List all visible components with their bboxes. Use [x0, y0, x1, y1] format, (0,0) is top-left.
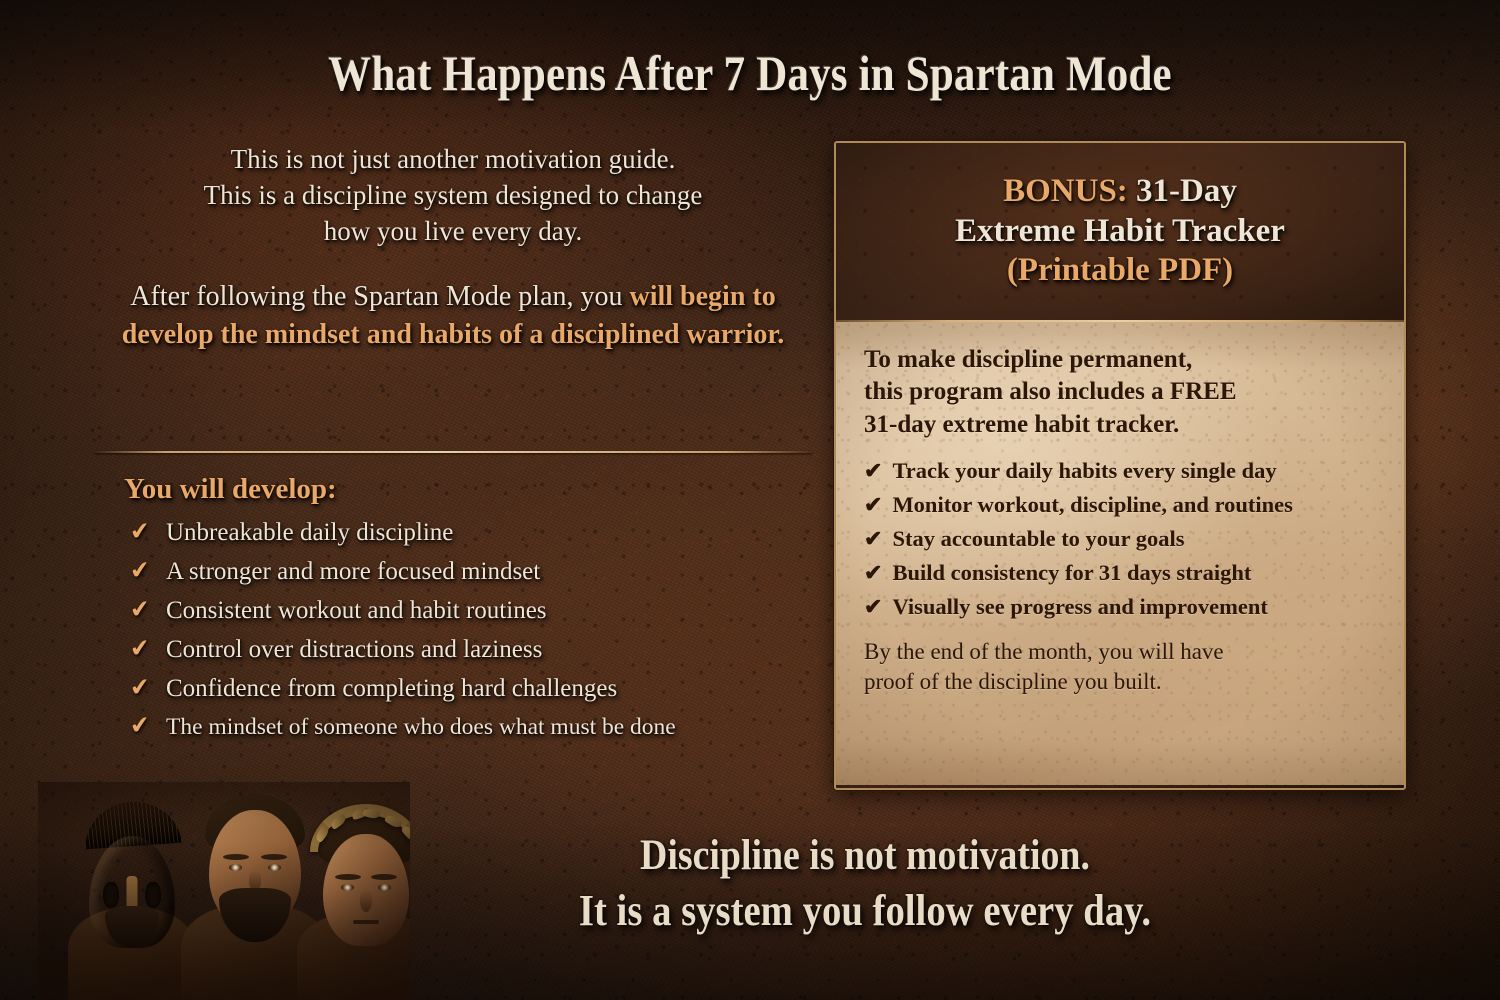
parchment-content: To make discipline permanent, this progr…: [836, 322, 1404, 785]
warrior-nose: [360, 890, 372, 912]
bonus-label: BONUS:: [1003, 173, 1128, 209]
laurel-leaf: [384, 813, 403, 830]
warrior-eye: [378, 884, 391, 891]
page-title: What Happens After 7 Days in Spartan Mod…: [105, 44, 1395, 102]
check-icon: ✔: [129, 636, 153, 662]
check-icon: ✔: [864, 528, 882, 550]
intro-paragraph: This is not just another motivation guid…: [88, 142, 818, 250]
intro-line-3: how you live every day.: [88, 214, 818, 250]
lead-line-1: To make discipline permanent,: [864, 344, 1378, 376]
check-icon: ✔: [864, 596, 882, 618]
closing-tagline: Discipline is not motivation. It is a sy…: [394, 828, 1336, 939]
list-item-label: Control over distractions and laziness: [166, 635, 542, 665]
laurel-leaf: [362, 807, 381, 820]
check-icon: ✔: [864, 460, 882, 482]
bonus-duration: 31-Day: [1128, 173, 1237, 209]
list-item-label: Build consistency for 31 days straight: [892, 559, 1251, 586]
check-icon: ✔: [129, 675, 153, 701]
closing-line-1: By the end of the month, you will have: [864, 637, 1378, 667]
intro-line-2: This is a discipline system designed to …: [88, 178, 818, 214]
list-item: ✔ The mindset of someone who does what m…: [130, 713, 830, 741]
tagline-line-2: It is a system you follow every day.: [394, 883, 1336, 939]
warrior-face: [323, 834, 409, 946]
list-item: ✔ Stay accountable to your goals: [864, 525, 1378, 552]
section-divider: [95, 451, 812, 453]
check-icon: ✔: [129, 519, 153, 545]
poster-canvas: What Happens After 7 Days in Spartan Mod…: [0, 0, 1500, 1000]
list-item-label: Unbreakable daily discipline: [166, 518, 453, 548]
tagline-line-1: Discipline is not motivation.: [394, 828, 1336, 883]
list-item: ✔ Monitor workout, discipline, and routi…: [864, 491, 1378, 518]
parchment-sheet: To make discipline permanent, this progr…: [836, 322, 1404, 785]
check-icon: ✔: [129, 597, 153, 623]
spartan-helmet-warrior: [66, 800, 198, 1000]
laurel-crowned-roman-warrior: [296, 800, 410, 1000]
helmet-eye-slot: [145, 882, 161, 908]
list-item: ✔ Confidence from completing hard challe…: [130, 674, 830, 704]
list-item-label: Track your daily habits every single day: [892, 457, 1276, 484]
lead-line-2: this program also includes a FREE: [864, 376, 1378, 408]
spartan-warriors-illustration: [38, 782, 410, 1000]
parchment-closing-paragraph: By the end of the month, you will have p…: [864, 637, 1378, 697]
check-icon: ✔: [864, 562, 882, 584]
list-item-label: Consistent workout and habit routines: [166, 596, 547, 626]
laurel-leaf: [314, 824, 332, 843]
list-item-label: Monitor workout, discipline, and routine…: [892, 491, 1292, 518]
list-item: ✔ Unbreakable daily discipline: [130, 518, 830, 548]
warrior-mouth: [353, 920, 379, 924]
check-icon: ✔: [864, 494, 882, 516]
bonus-format-note: (Printable PDF): [1007, 251, 1233, 291]
develop-heading: You will develop:: [124, 473, 337, 506]
check-icon: ✔: [129, 713, 153, 739]
list-item: ✔ Visually see progress and improvement: [864, 593, 1378, 620]
warrior-eye: [268, 864, 281, 871]
left-content-column: This is not just another motivation guid…: [88, 142, 818, 353]
list-item: ✔ Track your daily habits every single d…: [864, 457, 1378, 484]
parchment-lead-paragraph: To make discipline permanent, this progr…: [864, 344, 1378, 441]
outcome-plain-line: After following the Spartan Mode plan, y…: [130, 281, 622, 312]
warrior-brow: [223, 854, 249, 860]
lead-line-3: 31-day extreme habit tracker.: [864, 409, 1378, 441]
warrior-eye: [229, 864, 242, 871]
closing-line-2: proof of the discipline you built.: [864, 667, 1378, 697]
list-item-label: Stay accountable to your goals: [892, 525, 1184, 552]
list-item: ✔ Build consistency for 31 days straight: [864, 559, 1378, 586]
check-icon: ✔: [129, 558, 153, 584]
warrior-eye: [341, 884, 354, 891]
bonus-title-line-2: Extreme Habit Tracker: [955, 212, 1285, 252]
bonus-title-line-1: BONUS: 31-Day: [1003, 172, 1237, 212]
list-item: ✔ Control over distractions and laziness: [130, 635, 830, 665]
bonus-panel: BONUS: 31-Day Extreme Habit Tracker (Pri…: [834, 141, 1406, 790]
list-item-label: Visually see progress and improvement: [892, 593, 1267, 620]
list-item-label: A stronger and more focused mindset: [166, 557, 540, 587]
list-item-label: The mindset of someone who does what mus…: [166, 713, 676, 741]
laurel-leaf: [401, 824, 410, 843]
outcome-paragraph: After following the Spartan Mode plan, y…: [88, 278, 818, 354]
warrior-brow: [335, 874, 361, 880]
list-item: ✔ A stronger and more focused mindset: [130, 557, 830, 587]
bonus-title: BONUS: 31-Day Extreme Habit Tracker (Pri…: [836, 143, 1404, 320]
list-item: ✔ Consistent workout and habit routines: [130, 596, 830, 626]
laurel-leaf: [329, 813, 348, 830]
warrior-brow: [261, 854, 287, 860]
intro-line-1: This is not just another motivation guid…: [88, 142, 818, 178]
tracker-checklist: ✔ Track your daily habits every single d…: [864, 457, 1378, 620]
list-item-label: Confidence from completing hard challeng…: [166, 674, 617, 704]
outcome-highlight-line-2: habits of a disciplined warrior.: [419, 319, 784, 350]
warrior-brow: [371, 874, 397, 880]
helmet-eye-slot: [103, 882, 119, 908]
bonus-panel-header: BONUS: 31-Day Extreme Habit Tracker (Pri…: [836, 143, 1404, 320]
develop-list: ✔ Unbreakable daily discipline ✔ A stron…: [130, 518, 830, 750]
